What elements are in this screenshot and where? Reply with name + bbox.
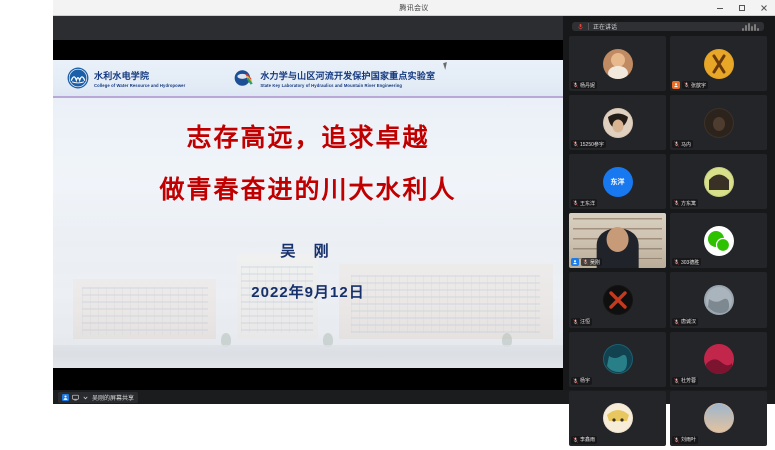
participant-name: 杨丹妮 xyxy=(580,82,595,89)
mic-muted-icon xyxy=(573,437,578,443)
participant-tile[interactable]: 15250参宇 xyxy=(569,95,666,150)
participant-nametag: 刘雨叶 xyxy=(672,436,698,444)
participant-nametag: 杨丹妮 xyxy=(571,81,597,89)
wechat-logo-avatar xyxy=(704,226,734,256)
dark-portrait-avatar xyxy=(704,108,734,138)
participant-name: 刘雨叶 xyxy=(681,436,696,443)
window-titlebar: 腾讯会议 xyxy=(53,0,775,16)
participant-nametag: 唐诚汉 xyxy=(672,318,698,326)
camera-on-icon xyxy=(571,258,579,266)
participant-nametag: 吴刚 xyxy=(581,258,602,266)
minimize-button[interactable] xyxy=(709,0,731,16)
mic-muted-icon xyxy=(674,259,679,265)
earth-night-avatar xyxy=(603,344,633,374)
mic-muted-icon xyxy=(674,141,679,147)
participants-pane: 正在讲话 杨丹妮张歆宇15250参宇马内东洋王东洋方东篱吴刚303德胜汪恒唐诚汉… xyxy=(563,16,775,390)
participant-name: 汪恒 xyxy=(580,318,590,325)
participant-nametag: 马内 xyxy=(672,140,693,148)
monitor-icon xyxy=(72,394,79,401)
chevron-down-icon[interactable] xyxy=(82,394,89,401)
mic-muted-icon xyxy=(573,200,578,206)
host-badge-icon xyxy=(672,81,680,89)
video-person-body xyxy=(596,229,639,269)
participant-tile[interactable]: 东洋王东洋 xyxy=(569,154,666,209)
calligraphy-avatar xyxy=(603,285,633,315)
shared-screen-pane[interactable]: 水利水电学院 College of Water Resource and Hyd… xyxy=(53,16,563,390)
org-lockup-lab: 水力学与山区河流开发保护国家重点实验室 State Key Laboratory… xyxy=(233,67,435,89)
participant-nametag: 杨宇 xyxy=(571,377,592,385)
tencent-meeting-window: 腾讯会议 xyxy=(53,0,775,404)
participant-nametag: 李鑫雨 xyxy=(571,436,597,444)
participant-nametag: 15250参宇 xyxy=(571,140,606,148)
share-letterbox-bottom xyxy=(53,368,563,390)
participant-nametag: 方东篱 xyxy=(672,199,698,207)
participant-tile[interactable]: 杨丹妮 xyxy=(569,36,666,91)
participant-grid: 杨丹妮张歆宇15250参宇马内东洋王东洋方东篱吴刚303德胜汪恒唐诚汉杨宇杜芳蓉… xyxy=(566,36,770,450)
slide-header-band: 水利水电学院 College of Water Resource and Hyd… xyxy=(53,60,563,98)
participant-tile[interactable]: 张歆宇 xyxy=(670,36,767,91)
blonde-doll-avatar xyxy=(603,403,633,433)
mic-muted-icon xyxy=(674,200,679,206)
participant-tile[interactable]: 杜芳蓉 xyxy=(670,332,767,387)
lab-emblem-logo xyxy=(233,67,255,89)
slide-date: 2022年9月12日 xyxy=(251,281,364,302)
participant-tile[interactable]: 马内 xyxy=(670,95,767,150)
sunset-sky-avatar xyxy=(704,403,734,433)
participant-name: 303德胜 xyxy=(681,259,699,266)
participant-nametag: 303德胜 xyxy=(672,258,701,266)
org-name-en-lab: State Key Laboratory of Hydraulics and M… xyxy=(260,83,435,88)
window-title: 腾讯会议 xyxy=(53,3,775,13)
window-controls xyxy=(709,0,775,15)
org-name-en-scu: College of Water Resource and Hydropower xyxy=(94,83,185,88)
mic-muted-icon xyxy=(684,82,689,88)
participant-tile[interactable]: 汪恒 xyxy=(569,272,666,327)
participant-nametag: 张歆宇 xyxy=(682,81,708,89)
participant-name: 马内 xyxy=(681,141,691,148)
initials-avatar: 东洋 xyxy=(603,167,633,197)
microphone-icon xyxy=(577,23,584,30)
org-lockup-scu: 水利水电学院 College of Water Resource and Hyd… xyxy=(67,67,185,89)
participant-name: 唐诚汉 xyxy=(681,318,696,325)
screen-share-label: 吴刚的屏幕共享 xyxy=(92,393,134,402)
mic-muted-icon xyxy=(674,319,679,325)
cartoon-bear-avatar xyxy=(603,49,633,79)
slide-headline-primary: 志存高远，追求卓越 xyxy=(186,118,429,154)
mic-muted-icon xyxy=(674,378,679,384)
slide-presenter-name: 吴 刚 xyxy=(280,240,335,261)
org-text-scu: 水利水电学院 College of Water Resource and Hyd… xyxy=(94,69,185,88)
slide-headline-secondary: 做青春奋进的川大水利人 xyxy=(159,170,456,206)
video-person-head xyxy=(606,227,628,252)
participant-tile[interactable]: 唐诚汉 xyxy=(670,272,767,327)
participant-tile[interactable]: 刘雨叶 xyxy=(670,391,767,446)
participant-name: 吴刚 xyxy=(590,259,600,266)
golden-crest-avatar xyxy=(704,49,734,79)
mic-muted-icon xyxy=(573,82,578,88)
mic-muted-icon xyxy=(573,319,578,325)
participant-tile[interactable]: 吴刚 xyxy=(569,213,666,268)
person-icon xyxy=(62,394,69,401)
participant-name: 杨宇 xyxy=(580,377,590,384)
active-speaker-label: 正在讲话 xyxy=(593,22,617,31)
org-name-cn-lab: 水力学与山区河流开发保护国家重点实验室 xyxy=(260,69,435,82)
audio-wave-icon xyxy=(742,23,759,31)
participant-name: 王东洋 xyxy=(580,200,595,207)
participant-nametag: 杜芳蓉 xyxy=(672,377,698,385)
silver-globe-avatar xyxy=(704,285,734,315)
active-speaker-bar: 正在讲话 xyxy=(572,22,764,31)
close-button[interactable] xyxy=(753,0,775,16)
participant-name: 张歆宇 xyxy=(691,82,706,89)
mic-muted-icon xyxy=(573,141,578,147)
divider xyxy=(588,23,589,30)
scu-seal-logo xyxy=(67,67,89,89)
participant-tile[interactable]: 303德胜 xyxy=(670,213,767,268)
maximize-button[interactable] xyxy=(731,0,753,16)
participant-tile[interactable]: 李鑫雨 xyxy=(569,391,666,446)
screen-share-badge[interactable]: 吴刚的屏幕共享 xyxy=(58,392,138,403)
participant-name: 方东篱 xyxy=(681,200,696,207)
mic-muted-icon xyxy=(573,378,578,384)
org-name-cn-scu: 水利水电学院 xyxy=(94,69,185,82)
meeting-body: 水利水电学院 College of Water Resource and Hyd… xyxy=(53,16,775,390)
anime-face-avatar xyxy=(704,167,734,197)
participant-nametag: 汪恒 xyxy=(571,318,592,326)
statusbar: 吴刚的屏幕共享 xyxy=(53,390,775,404)
org-text-lab: 水力学与山区河流开发保护国家重点实验室 State Key Laboratory… xyxy=(260,69,435,88)
participant-tile[interactable]: 杨宇 xyxy=(569,332,666,387)
participant-tile[interactable]: 方东篱 xyxy=(670,154,767,209)
presentation-slide: 水利水电学院 College of Water Resource and Hyd… xyxy=(53,60,563,368)
participant-nametag: 王东洋 xyxy=(571,199,597,207)
share-toolbar-strip xyxy=(53,16,563,40)
mic-muted-icon xyxy=(583,259,588,265)
participant-name: 李鑫雨 xyxy=(580,436,595,443)
participant-name: 杜芳蓉 xyxy=(681,377,696,384)
slide-content: 志存高远，追求卓越 做青春奋进的川大水利人 吴 刚 2022年9月12日 xyxy=(53,98,563,368)
red-scene-avatar xyxy=(704,344,734,374)
participant-name: 15250参宇 xyxy=(580,141,604,148)
mic-muted-icon xyxy=(674,437,679,443)
share-letterbox-top xyxy=(53,40,563,60)
photo-portrait-avatar xyxy=(603,108,633,138)
